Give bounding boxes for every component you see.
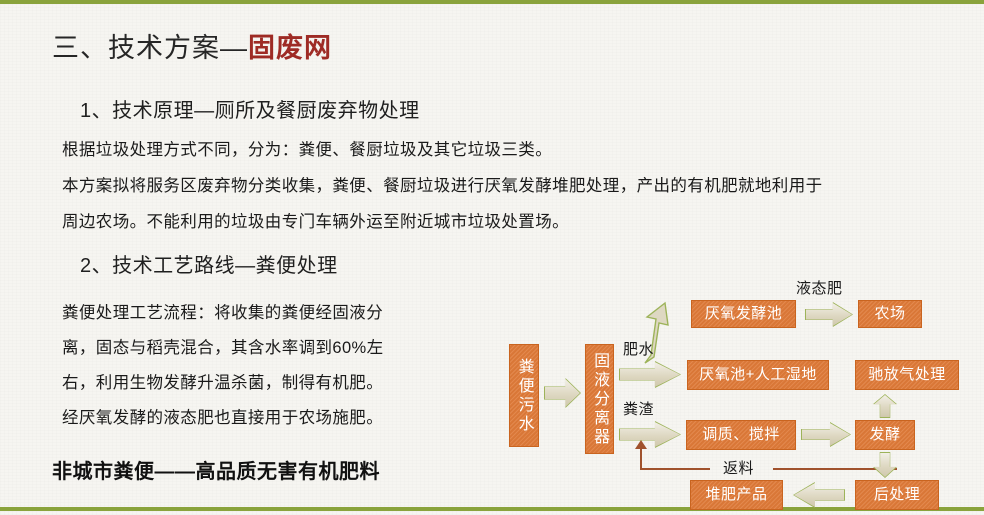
return-arrowhead-icon (635, 440, 647, 449)
process-flow-diagram: 粪便污水 固液分离器 厌氧发酵池 农场 厌氧池+人工湿地 驰放气处理 调质、搅拌… (495, 275, 984, 515)
node-anaerobic-fermentation-tank[interactable]: 厌氧发酵池 (691, 300, 796, 328)
node-conditioning-mixing[interactable]: 调质、搅拌 (686, 420, 796, 450)
section-1-line-2: 本方案拟将服务区废弃物分类收集，粪便、餐厨垃圾进行厌氧发酵堆肥处理，产出的有机肥… (62, 172, 823, 196)
node-compost-product[interactable]: 堆肥产品 (690, 480, 783, 510)
node-farm[interactable]: 农场 (858, 300, 922, 328)
section-2-line-2: 离，固态与稻壳混合，其含水率调到60%左 (62, 334, 384, 358)
slide-canvas: 三、技术方案—固废网 1、技术原理—厕所及餐厨废弃物处理 根据垃圾处理方式不同，… (0, 0, 984, 515)
edge-label-liquid-fertilizer: 液态肥 (796, 277, 843, 298)
node-sewage[interactable]: 粪便污水 (509, 344, 539, 447)
section-1-heading: 1、技术原理—厕所及餐厨废弃物处理 (80, 94, 420, 123)
arrow-mixing-to-ferment-icon (802, 423, 850, 446)
top-rule-divider (0, 0, 984, 4)
node-offgas-treatment[interactable]: 驰放气处理 (855, 360, 959, 390)
arrow-ferment-to-offgas-icon (874, 395, 896, 417)
arrow-separator-to-wetland-icon (620, 362, 680, 387)
page-title-prefix: 三、技术方案— (52, 33, 248, 63)
conclusion-text: 非城市粪便——高品质无害有机肥料 (52, 455, 380, 484)
page-title-accent: 固废网 (248, 33, 332, 63)
return-line-segment-vertical (640, 448, 642, 469)
section-1-line-3: 周边农场。不能利用的垃圾由专门车辆外运至附近城市垃圾处置场。 (62, 208, 569, 232)
section-2-line-4: 经厌氧发酵的液态肥也直接用于农场施肥。 (62, 404, 383, 428)
arrow-ferment-to-posttreat-icon (874, 453, 896, 477)
node-anaerobic-pond-wetland[interactable]: 厌氧池+人工湿地 (687, 360, 829, 390)
section-1-line-1: 根据垃圾处理方式不同，分为：粪便、餐厨垃圾及其它垃圾三类。 (62, 136, 552, 160)
arrow-separator-to-mixing-icon (620, 422, 680, 447)
edge-label-return-material: 返料 (717, 457, 760, 478)
arrow-anaerobic-to-farm-icon (806, 303, 852, 326)
node-fermentation[interactable]: 发酵 (855, 420, 915, 450)
section-2-heading: 2、技术工艺路线—粪便处理 (80, 249, 338, 278)
arrow-sewage-to-separator-icon (545, 379, 580, 407)
page-title: 三、技术方案—固废网 (52, 26, 332, 65)
edge-label-fertilizer-water: 肥水 (623, 338, 654, 359)
section-2-line-1: 粪便处理工艺流程：将收集的粪便经固液分 (62, 299, 383, 323)
node-post-treatment[interactable]: 后处理 (855, 480, 939, 510)
arrow-posttreat-to-compost-icon (794, 483, 844, 507)
return-line-segment-left (640, 468, 710, 470)
node-separator[interactable]: 固液分离器 (585, 344, 614, 454)
edge-label-manure-slurry: 粪渣 (623, 398, 654, 419)
section-2-line-3: 右，利用生物发酵升温杀菌，制得有机肥。 (62, 369, 383, 393)
